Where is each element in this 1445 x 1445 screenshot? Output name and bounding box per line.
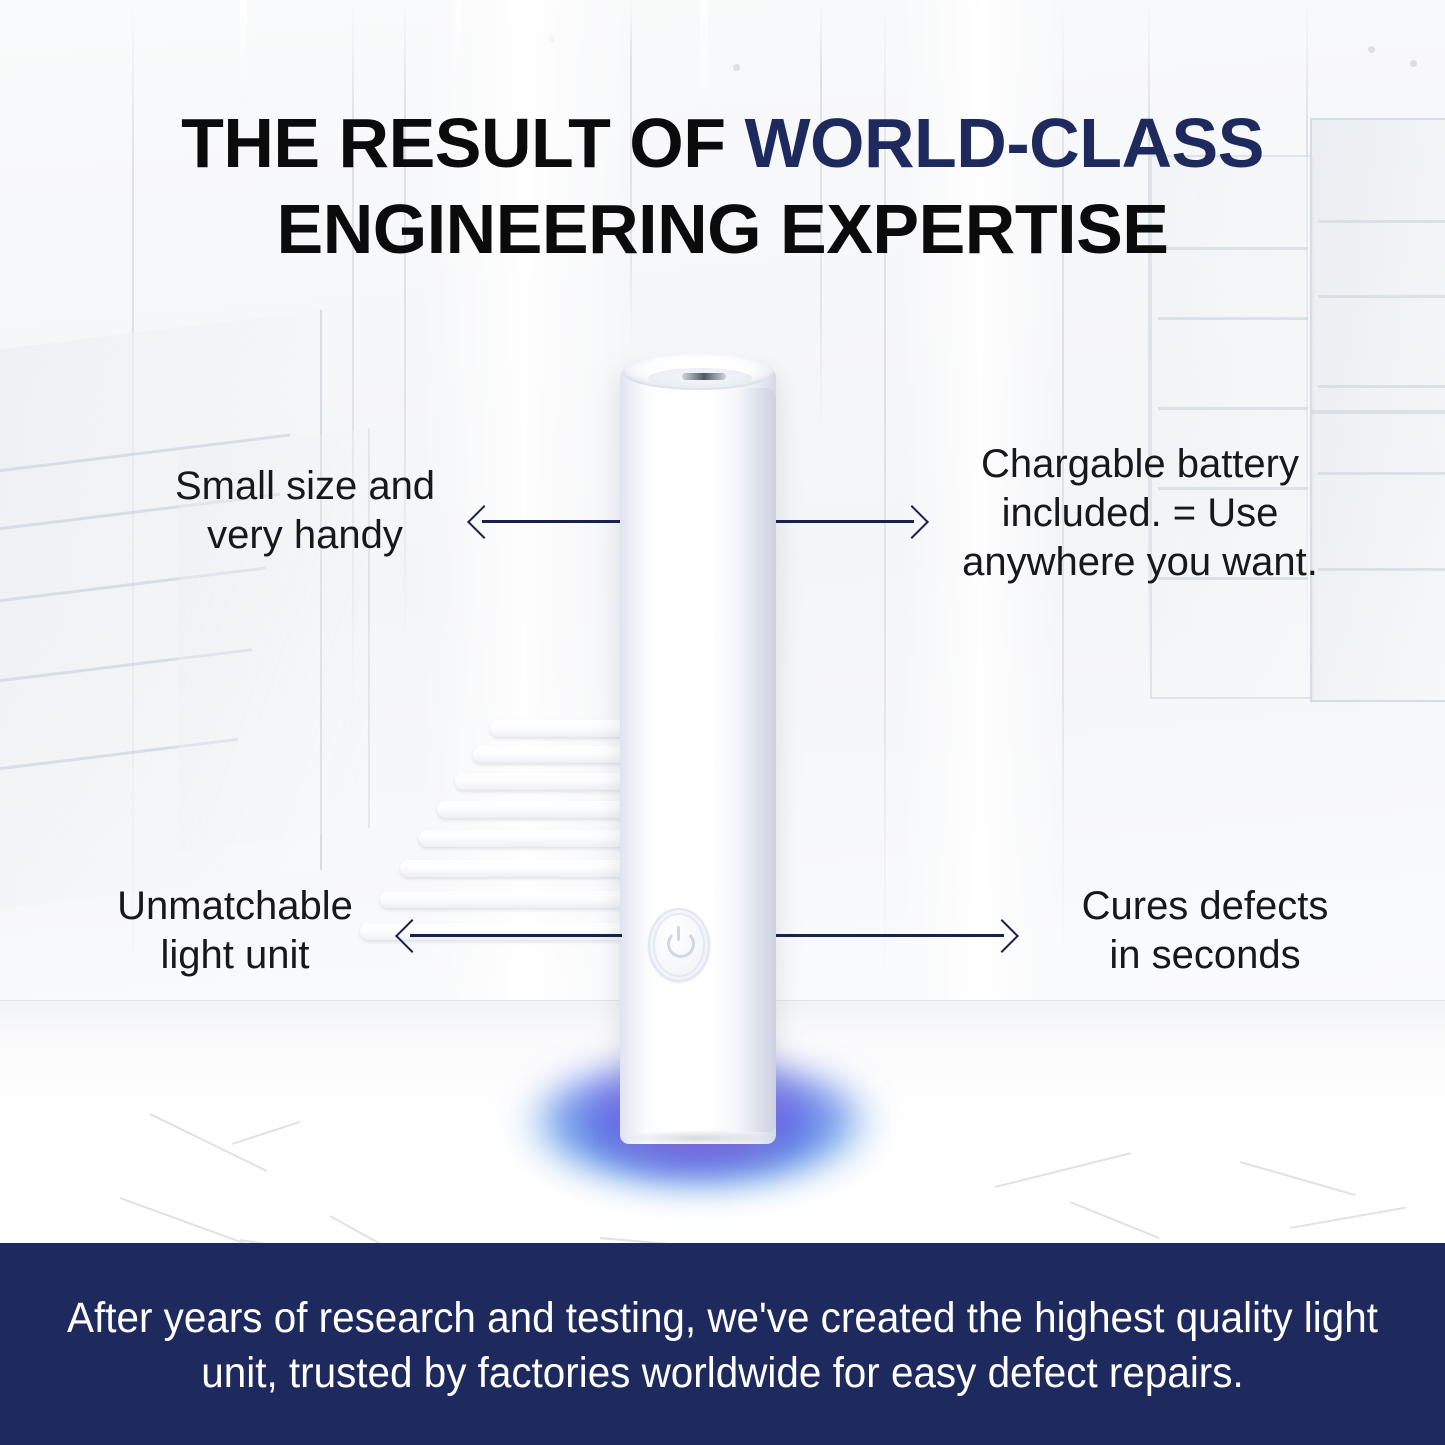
led-aperture: [682, 373, 726, 380]
arrow-bottom-left: [400, 918, 622, 952]
ceiling-spot: [1410, 60, 1417, 67]
arrow-shaft: [482, 520, 620, 523]
arrow-bottom-right: [776, 918, 1014, 952]
product-uv-light-pen[interactable]: [620, 348, 776, 1144]
device-edge-shading: [740, 388, 776, 1132]
arrow-top-left: [472, 504, 620, 538]
shelf: [1158, 317, 1308, 320]
power-icon: [667, 926, 691, 956]
headline-line-1: THE RESULT OF WORLD-CLASS: [0, 104, 1445, 184]
arrow-shaft: [776, 520, 914, 523]
ceiling-spot: [733, 64, 740, 71]
marble-vein: [1240, 1161, 1356, 1196]
shelf: [1158, 407, 1308, 410]
marble-vein: [995, 1152, 1131, 1188]
arrow-shaft: [410, 934, 622, 937]
power-button[interactable]: [648, 908, 710, 982]
marble-vein: [1290, 1207, 1407, 1229]
device-base-shadow: [626, 1130, 770, 1146]
marble-vein: [1070, 1201, 1160, 1239]
arrow-head-icon: [895, 505, 929, 539]
marble-vein: [232, 1121, 301, 1145]
ceiling-light-strip: [700, 0, 708, 116]
arrow-shaft: [776, 934, 1004, 937]
shelf: [1312, 410, 1445, 414]
callout-light-unit: Unmatchable light unit: [55, 882, 415, 980]
callout-small-size: Small size and very handy: [80, 462, 530, 560]
headline-accent-part: WORLD-CLASS: [744, 104, 1263, 182]
arrow-head-icon: [985, 919, 1019, 953]
marble-vein: [150, 1113, 268, 1172]
device-highlight: [646, 396, 686, 1126]
callout-battery: Chargable battery included. = Use anywhe…: [915, 440, 1365, 586]
headline-black-part: THE RESULT OF: [181, 104, 744, 182]
shelf: [1318, 295, 1445, 298]
banner-text: After years of research and testing, we'…: [43, 1291, 1401, 1401]
bottom-banner: After years of research and testing, we'…: [0, 1243, 1445, 1445]
shelf: [1318, 385, 1445, 388]
headline-line-2: ENGINEERING EXPERTISE: [0, 190, 1445, 270]
ceiling-light-strip: [240, 0, 247, 104]
arrow-top-right: [776, 504, 924, 538]
ceiling-spot: [1368, 46, 1375, 53]
device-top-cap: [622, 354, 774, 390]
callout-cures-defects: Cures defects in seconds: [1020, 882, 1390, 980]
infographic-canvas: THE RESULT OF WORLD-CLASS ENGINEERING EX…: [0, 0, 1445, 1445]
